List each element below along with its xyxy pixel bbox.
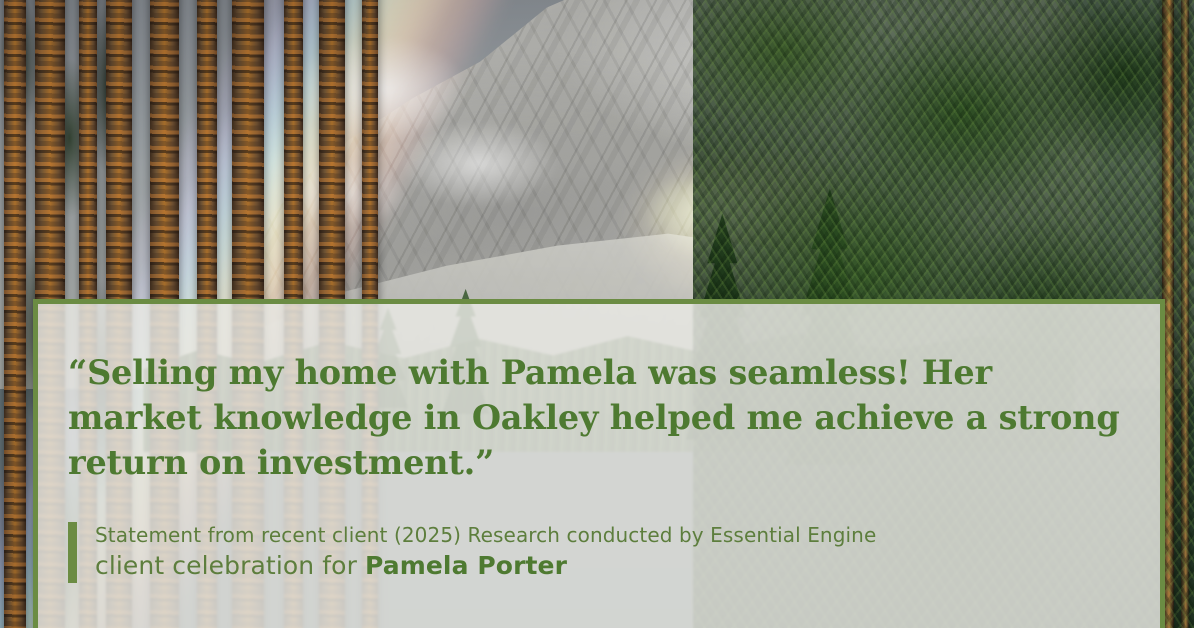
pine-trunk <box>4 0 26 628</box>
testimonial-source: Statement from recent client (2025) Rese… <box>95 522 876 549</box>
attribution: Statement from recent client (2025) Rese… <box>68 522 876 583</box>
attribution-text: Statement from recent client (2025) Rese… <box>95 522 876 583</box>
agent-name: Pamela Porter <box>365 551 567 580</box>
pine-trunk <box>1181 0 1189 628</box>
panel-content: “Selling my home with Pamela was seamles… <box>38 304 1160 628</box>
testimonial-panel: “Selling my home with Pamela was seamles… <box>33 299 1165 628</box>
accent-bar <box>68 522 77 583</box>
testimonial-credit: client celebration for Pamela Porter <box>95 549 876 583</box>
testimonial-quote: “Selling my home with Pamela was seamles… <box>68 350 1120 485</box>
credit-prefix: client celebration for <box>95 551 365 580</box>
testimonial-graphic: “Selling my home with Pamela was seamles… <box>0 0 1194 628</box>
